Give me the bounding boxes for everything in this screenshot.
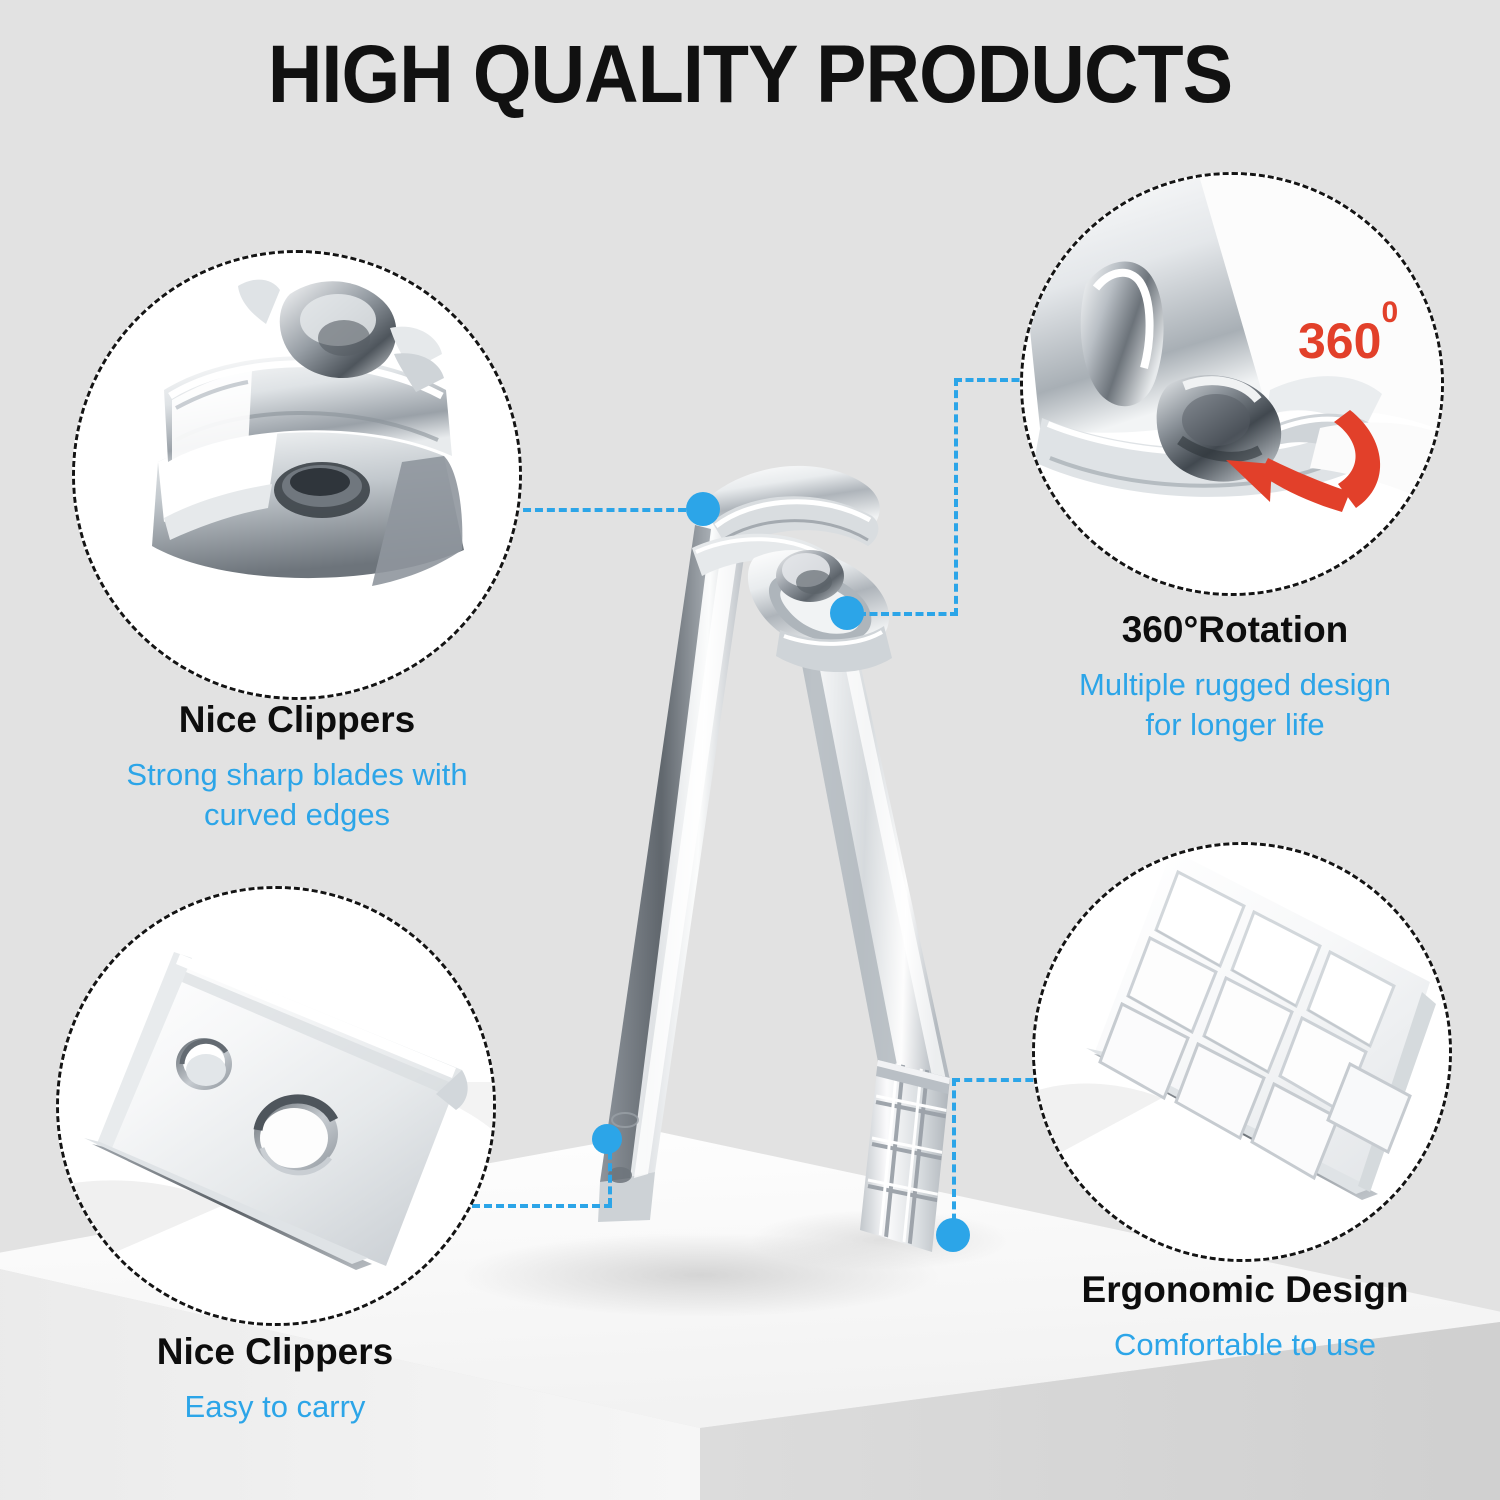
clipper-jaw-blades-closeup-image bbox=[72, 250, 522, 700]
callout-circle-border bbox=[72, 250, 522, 700]
callout-subtitle-blades-line1: Strong sharp blades with bbox=[47, 756, 547, 795]
callout-title-ergonomic: Ergonomic Design bbox=[1010, 1268, 1480, 1312]
badge-360-value: 360 bbox=[1298, 313, 1381, 369]
callout-circle-border bbox=[1032, 842, 1452, 1262]
callout-rotation[interactable]: 3600 bbox=[1020, 172, 1444, 596]
callout-title-blades: Nice Clippers bbox=[47, 698, 547, 742]
callout-nice-clippers-blades[interactable] bbox=[72, 250, 522, 700]
textured-grip-pattern-closeup-image bbox=[1032, 842, 1452, 1262]
callout-caption-blades: Nice Clippers Strong sharp blades with c… bbox=[47, 698, 547, 835]
marker-grip-dot[interactable] bbox=[936, 1218, 970, 1252]
swivel-pivot-head-closeup-image bbox=[1020, 172, 1444, 596]
badge-degree-symbol: 0 bbox=[1381, 296, 1398, 329]
callout-caption-ergonomic: Ergonomic Design Comfortable to use bbox=[1010, 1268, 1480, 1364]
marker-handle-end-dot[interactable] bbox=[592, 1124, 622, 1154]
callout-subtitle-rotation-line1: Multiple rugged design bbox=[1000, 666, 1470, 705]
marker-pivot-dot[interactable] bbox=[830, 596, 864, 630]
callout-circle-border bbox=[1020, 172, 1444, 596]
page-title: HIGH QUALITY PRODUCTS bbox=[60, 28, 1440, 122]
callout-title-carry: Nice Clippers bbox=[40, 1330, 510, 1374]
callout-ergonomic[interactable] bbox=[1032, 842, 1452, 1262]
handle-end-keyring-holes-closeup-image bbox=[56, 886, 496, 1326]
callout-subtitle-carry-line1: Easy to carry bbox=[40, 1388, 510, 1427]
infographic-canvas: HIGH QUALITY PRODUCTS bbox=[0, 0, 1500, 1500]
callout-caption-carry: Nice Clippers Easy to carry bbox=[40, 1330, 510, 1426]
callout-circle-border bbox=[56, 886, 496, 1326]
callout-subtitle-rotation-line2: for longer life bbox=[1000, 706, 1470, 745]
callout-caption-rotation: 360°Rotation Multiple rugged design for … bbox=[1000, 608, 1470, 745]
callout-subtitle-ergonomic-line1: Comfortable to use bbox=[1010, 1326, 1480, 1365]
marker-blade-dot[interactable] bbox=[686, 492, 720, 526]
callout-nice-clippers-carry[interactable] bbox=[56, 886, 496, 1326]
callout-subtitle-blades-line2: curved edges bbox=[47, 796, 547, 835]
callout-title-rotation: 360°Rotation bbox=[1000, 608, 1470, 652]
badge-360-rotation: 3600 bbox=[1298, 312, 1398, 370]
